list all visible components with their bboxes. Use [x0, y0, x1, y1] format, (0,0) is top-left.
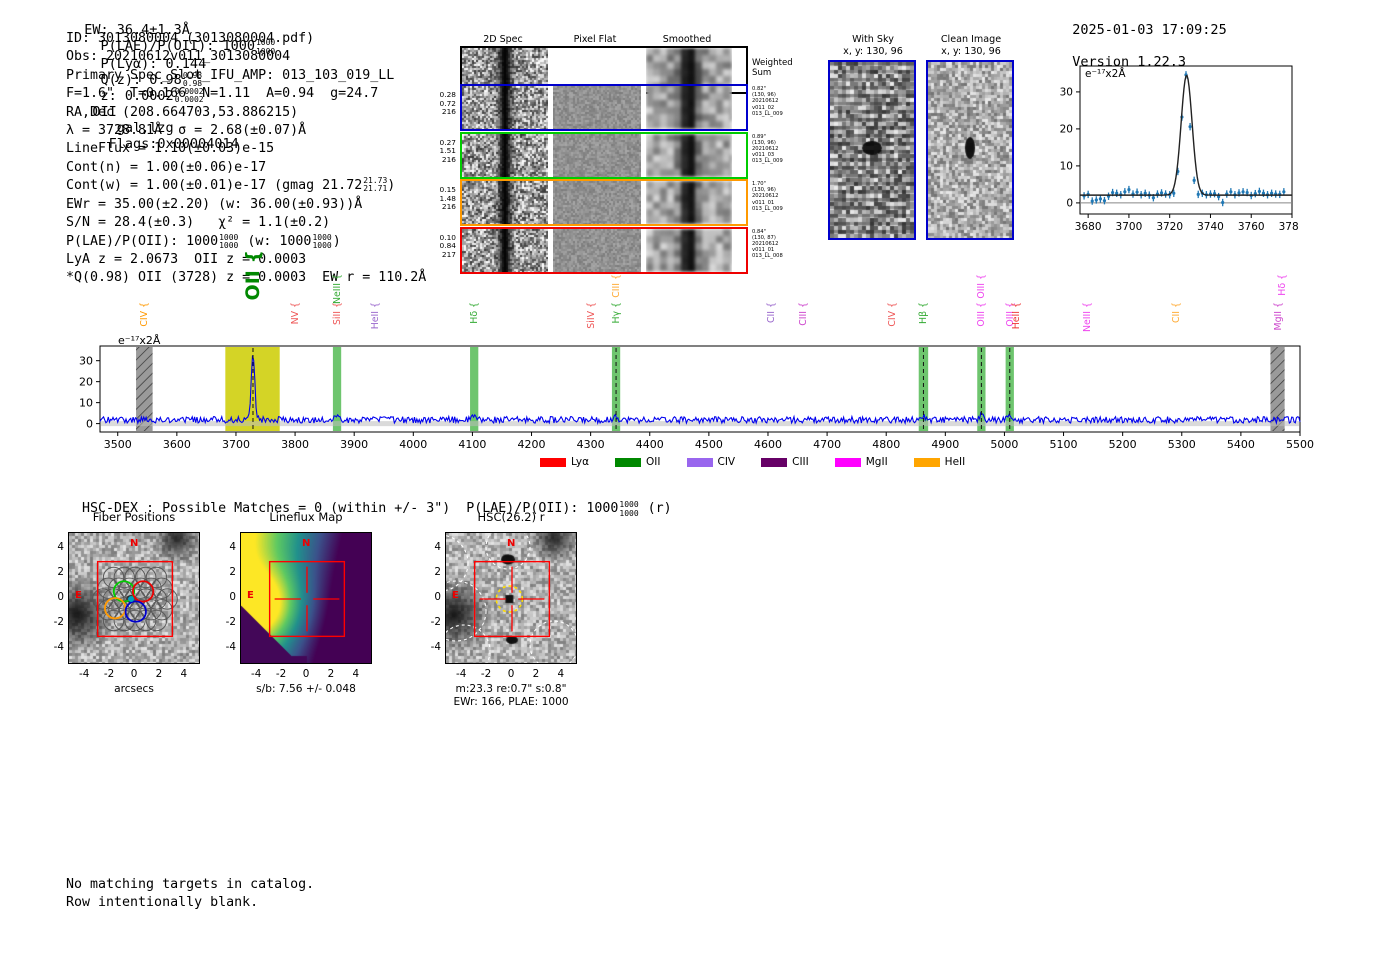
axis-tick-y: 2	[423, 566, 441, 578]
svg-text:3600: 3600	[163, 438, 191, 451]
legend-label: MgII	[866, 456, 888, 468]
legend-item: CIII	[761, 456, 809, 468]
info-cont-n: Cont(n) = 1.00(±0.06)e-17	[66, 159, 426, 177]
compass-north: N	[130, 538, 138, 549]
axis-tick-y: 4	[218, 541, 236, 553]
svg-text:20: 20	[79, 376, 93, 389]
spectrum-flux-unit-annotation: e⁻¹⁷x2Å	[118, 334, 160, 347]
axis-tick-y: -2	[46, 616, 64, 628]
axis-tick-x: 4	[348, 668, 364, 680]
fiber-row-right-labels: 0.84"(130, 87)20210612v011_01013_LL_008	[752, 229, 804, 260]
svg-text:20: 20	[1060, 124, 1073, 136]
info-snr-chi2: S/N = 28.4(±0.3) χ² = 1.1(±0.2)	[66, 214, 426, 232]
legend-color-swatch	[761, 458, 787, 467]
info-plae-fraction-1: 10001000	[219, 234, 238, 250]
axis-tick-x: 4	[553, 668, 569, 680]
svg-text:4500: 4500	[695, 438, 723, 451]
svg-text:3700: 3700	[222, 438, 250, 451]
fit-flux-unit-annotation: e⁻¹⁷x2Å	[1085, 68, 1126, 80]
fiber-pixel-flat-image	[553, 181, 641, 224]
emission-line-label: CIV {	[887, 302, 898, 327]
legend-label: HeII	[945, 456, 966, 468]
compass-east: E	[452, 590, 459, 601]
svg-text:10: 10	[1060, 161, 1073, 173]
svg-text:3720: 3720	[1156, 221, 1183, 233]
fiber-row-right-labels: 0.89"(130, 96)20210612v011_03013_LL_009	[752, 134, 804, 165]
axis-tick-x: -2	[478, 668, 494, 680]
axis-tick-y: -4	[423, 641, 441, 653]
full-spectrum-svg: 3500360037003800390040004100420043004400…	[100, 346, 1300, 452]
full-spectrum-chart: 3500360037003800390040004100420043004400…	[100, 346, 1300, 432]
svg-text:4700: 4700	[813, 438, 841, 451]
axis-tick-y: -4	[218, 641, 236, 653]
image-cutouts-panel: With Skyx, y: 130, 96Clean Imagex, y: 13…	[820, 34, 1020, 254]
info-seeing-params: F=1.6" T=0.166 N=1.11 A=0.94 g=24.7	[66, 85, 426, 103]
spectra-row	[460, 132, 748, 179]
svg-text:5400: 5400	[1227, 438, 1255, 451]
column-header-smoothed: Smoothed	[644, 34, 730, 45]
info-plae-fraction-2: 10001000	[312, 234, 331, 250]
legend-color-swatch	[835, 458, 861, 467]
panel-caption: m:23.3 re:0.7" s:0.8"EWr: 166, PLAE: 100…	[423, 683, 599, 709]
svg-text:5300: 5300	[1168, 438, 1196, 451]
axis-tick-y: -2	[423, 616, 441, 628]
fiber-2d-spec-image	[462, 229, 548, 272]
imaging-panel-title: Fiber Positions	[48, 510, 220, 524]
svg-text:5000: 5000	[990, 438, 1018, 451]
cutout-title: With Skyx, y: 130, 96	[828, 34, 918, 57]
emission-line-label: OII {	[242, 250, 264, 300]
emission-line-label: CIII {	[611, 274, 622, 298]
imaging-overlay	[241, 533, 372, 664]
emission-line-label: Hδ {	[469, 302, 480, 324]
svg-text:5200: 5200	[1109, 438, 1137, 451]
spectra-row	[460, 179, 748, 226]
fiber-smoothed-image	[646, 181, 732, 224]
compass-east: E	[75, 590, 82, 601]
fiber-row-right-labels: 1.70"(130, 96)20210612v011_01013_LL_009	[752, 181, 804, 212]
fiber-row-left-labels: 0.280.72216	[424, 91, 456, 117]
imaging-overlay	[69, 533, 200, 664]
fiber-row-left-labels: 0.100.84217	[424, 234, 456, 260]
info-primary-spec: Primary Spec_Slot_IFU_AMP: 013_103_019_L…	[66, 67, 426, 85]
fiber-row-left-labels: 0.151.48216	[424, 186, 456, 212]
emission-line-label: CIV {	[139, 302, 150, 327]
fiber-smoothed-image	[646, 229, 732, 272]
axis-tick-y: 4	[46, 541, 64, 553]
svg-text:4000: 4000	[399, 438, 427, 451]
svg-text:4600: 4600	[754, 438, 782, 451]
column-header-2d-spec: 2D Spec	[460, 34, 546, 45]
emission-line-fit-chart: 3680370037203740376037800102030e⁻¹⁷x2Å	[1040, 58, 1298, 240]
emission-line-label: OIII {	[976, 302, 987, 327]
axis-tick-y: 4	[423, 541, 441, 553]
svg-text:4400: 4400	[636, 438, 664, 451]
svg-text:4900: 4900	[931, 438, 959, 451]
footer-line-2: Row intentionally blank.	[66, 894, 314, 912]
info-radec: RA,Dec (208.664703,53.886215)	[66, 104, 426, 122]
compass-north: N	[302, 538, 310, 549]
spectrum-legend: LyαOIICIVCIIIMgIIHeII	[540, 456, 965, 468]
emission-line-label: OIII {	[976, 274, 987, 299]
panel-caption-line-2: EWr: 166, PLAE: 1000	[423, 696, 599, 709]
svg-text:4300: 4300	[577, 438, 605, 451]
svg-text:3780: 3780	[1279, 221, 1298, 233]
svg-text:3700: 3700	[1116, 221, 1143, 233]
info-id: ID: 3013080004 (3013080004.pdf)	[66, 30, 426, 48]
info-lineflux: LineFlux = 1.10(±0.03)e-15	[66, 140, 426, 158]
fiber-smoothed-image	[646, 134, 732, 177]
emission-line-label: NeIII {	[1082, 302, 1093, 332]
info-ewr: EWr = 35.00(±2.20) (w: 36.00(±0.93))Å	[66, 196, 426, 214]
svg-text:10: 10	[79, 397, 93, 410]
cutout-title-text: Clean Image	[926, 34, 1016, 46]
info-gmag-errors: 21.7321.71	[363, 177, 387, 193]
fiber-row-left-labels: 0.271.51216	[424, 139, 456, 165]
line-fit-svg: 3680370037203740376037800102030	[1040, 58, 1298, 240]
axis-tick-y: -2	[218, 616, 236, 628]
imaging-overlay	[446, 533, 577, 664]
fiber-pixel-flat-image	[553, 229, 641, 272]
axis-tick-x: 2	[323, 668, 339, 680]
axis-tick-x: 0	[503, 668, 519, 680]
emission-line-label: NV {	[290, 302, 301, 324]
emission-line-label: SiIV {	[586, 302, 597, 329]
emission-line-label: HeII {	[370, 302, 381, 329]
svg-text:0: 0	[86, 418, 93, 431]
emission-line-label: HeII {	[1011, 302, 1022, 329]
legend-label: OII	[646, 456, 660, 468]
svg-text:3760: 3760	[1238, 221, 1265, 233]
axis-tick-x: 2	[528, 668, 544, 680]
panel-caption-line-1: m:23.3 re:0.7" s:0.8"	[423, 683, 599, 696]
fiber-2d-spec-image	[462, 134, 548, 177]
spectra-row	[460, 84, 748, 131]
svg-text:3740: 3740	[1197, 221, 1224, 233]
svg-text:3680: 3680	[1075, 221, 1102, 233]
axis-tick-x: -4	[453, 668, 469, 680]
legend-color-swatch	[687, 458, 713, 467]
emission-line-label: Hβ {	[918, 302, 929, 324]
legend-item: MgII	[835, 456, 888, 468]
cutout-title: Clean Imagex, y: 130, 96	[926, 34, 1016, 57]
imaging-panels-row: Fiber PositionsNE-4-4-2-2002244arcsecsLi…	[0, 500, 1400, 740]
legend-color-swatch	[615, 458, 641, 467]
axis-tick-y: 0	[218, 591, 236, 603]
svg-text:30: 30	[1060, 87, 1073, 99]
fiber-pixel-flat-image	[553, 86, 641, 129]
svg-text:3900: 3900	[340, 438, 368, 451]
header-timestamp: 2025-01-03 17:09:25	[1072, 22, 1226, 38]
axis-tick-x: 2	[151, 668, 167, 680]
fiber-row-right-labels: 0.82"(130, 96)20210612v011_02013_LL_009	[752, 86, 804, 117]
footer-note: No matching targets in catalog. Row inte…	[66, 876, 314, 913]
svg-text:3500: 3500	[104, 438, 132, 451]
axis-tick-x: -4	[76, 668, 92, 680]
legend-item: Lyα	[540, 456, 589, 468]
svg-text:4200: 4200	[518, 438, 546, 451]
info-obs: Obs: 20210612v011_3013080004	[66, 48, 426, 66]
fiber-2d-spec-image	[462, 86, 548, 129]
axis-tick-y: 2	[46, 566, 64, 578]
fiber-2d-spec-image	[462, 181, 548, 224]
svg-text:4100: 4100	[458, 438, 486, 451]
svg-text:30: 30	[79, 355, 93, 368]
svg-text:0: 0	[1066, 198, 1073, 210]
panel-xlabel: arcsecs	[68, 683, 200, 696]
emission-line-label: Hδ {	[1277, 274, 1288, 296]
cutout-coordinates: x, y: 130, 96	[926, 46, 1016, 58]
imaging-panel-hsc-r-band	[445, 532, 577, 664]
svg-text:4800: 4800	[872, 438, 900, 451]
legend-label: CIV	[718, 456, 736, 468]
svg-text:3800: 3800	[281, 438, 309, 451]
axis-tick-x: -4	[248, 668, 264, 680]
emission-line-label: Hγ {	[611, 302, 622, 324]
cutout-coordinates: x, y: 130, 96	[828, 46, 918, 58]
axis-tick-x: 4	[176, 668, 192, 680]
compass-east: E	[247, 590, 254, 601]
legend-item: CIV	[687, 456, 736, 468]
footer-line-1: No matching targets in catalog.	[66, 876, 314, 894]
column-header-pixel-flat: Pixel Flat	[551, 34, 639, 45]
imaging-panel-fiber-positions	[68, 532, 200, 664]
imaging-panel-title: Lineflux Map	[220, 510, 392, 524]
legend-color-swatch	[914, 458, 940, 467]
info-cont-w: Cont(w) = 1.00(±0.01)e-17 (gmag 21.7221.…	[66, 177, 426, 196]
svg-text:5500: 5500	[1286, 438, 1314, 451]
imaging-panel-lineflux-map	[240, 532, 372, 664]
with-sky-cutout	[828, 60, 916, 240]
emission-line-label: MgII {	[1273, 302, 1284, 331]
legend-item: HeII	[914, 456, 966, 468]
clean-image-cutout	[926, 60, 1014, 240]
axis-tick-y: 0	[46, 591, 64, 603]
axis-tick-y: 0	[423, 591, 441, 603]
fiber-smoothed-image	[646, 86, 732, 129]
emission-line-label: CIII {	[798, 302, 809, 326]
svg-text:5100: 5100	[1050, 438, 1078, 451]
legend-item: OII	[615, 456, 660, 468]
axis-tick-x: 0	[298, 668, 314, 680]
panel-caption: s/b: 7.56 +/- 0.048	[218, 683, 394, 696]
emission-line-label: CII {	[1171, 302, 1182, 323]
legend-label: Lyα	[571, 456, 589, 468]
axis-tick-x: 0	[126, 668, 142, 680]
cutout-title-text: With Sky	[828, 34, 918, 46]
legend-label: CIII	[792, 456, 809, 468]
emission-line-label: CII {	[766, 302, 777, 323]
legend-color-swatch	[540, 458, 566, 467]
weighted-sum-label: WeightedSum	[752, 58, 793, 78]
info-plae: P(LAE)/P(OII): 100010001000 (w: 10001000…	[66, 233, 426, 251]
imaging-panel-title: HSC(26.2) r	[425, 510, 597, 524]
emission-line-label: NeIII {	[332, 274, 343, 304]
axis-tick-x: -2	[101, 668, 117, 680]
axis-tick-x: -2	[273, 668, 289, 680]
info-wavelength-sigma: λ = 3728.81Å σ = 2.68(±0.07)Å	[66, 122, 426, 140]
axis-tick-y: 2	[218, 566, 236, 578]
axis-tick-y: -4	[46, 641, 64, 653]
spectra-row	[460, 227, 748, 274]
fiber-pixel-flat-image	[553, 134, 641, 177]
compass-north: N	[507, 538, 515, 549]
emission-line-label: SiII {	[332, 302, 343, 325]
